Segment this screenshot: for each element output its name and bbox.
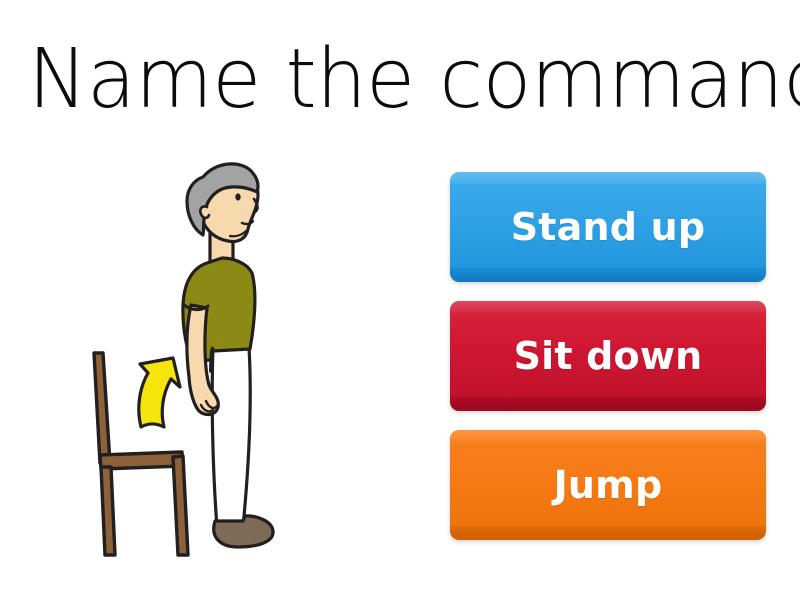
answer-button-stand-up-label: Stand up (450, 172, 766, 282)
page-title: Name the command (28, 34, 754, 126)
answer-button-sit-down-label: Sit down (450, 301, 766, 411)
illustration-person-standing-up (70, 155, 370, 565)
answer-options-list: Stand up Sit down Jump (450, 172, 766, 540)
up-arrow-icon (139, 358, 180, 427)
quiz-slide: Name the command (0, 0, 800, 600)
person-figure (183, 164, 273, 547)
answer-button-sit-down[interactable]: Sit down (450, 301, 766, 411)
answer-button-jump[interactable]: Jump (450, 430, 766, 540)
answer-button-jump-label: Jump (450, 430, 766, 540)
illustration-svg (70, 155, 370, 565)
answer-button-stand-up[interactable]: Stand up (450, 172, 766, 282)
